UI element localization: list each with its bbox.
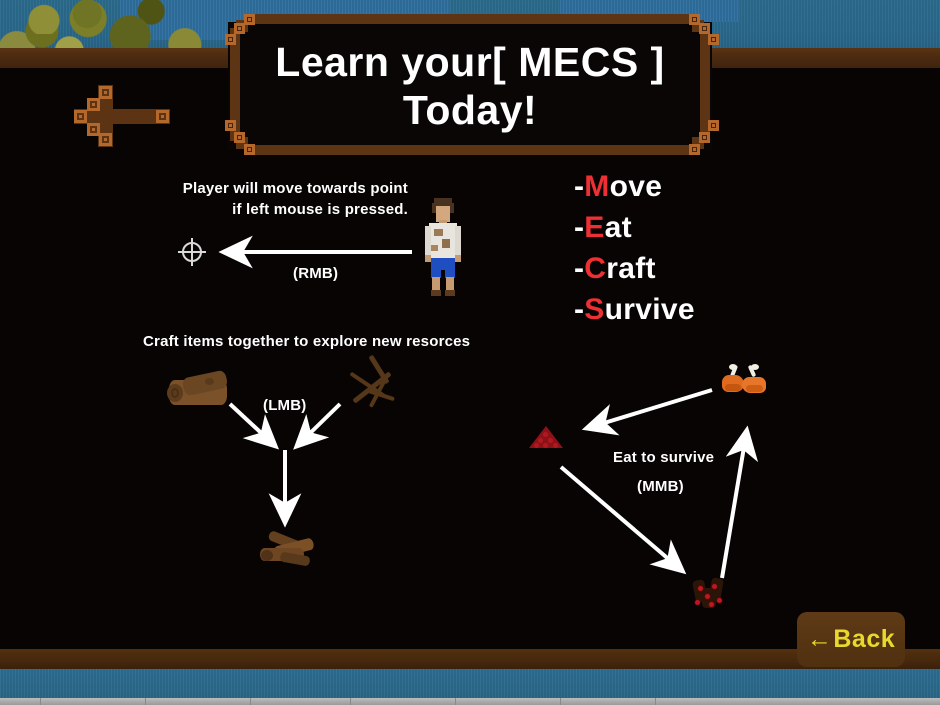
campfire-item-icon [258, 528, 318, 570]
mecs-initial: E [584, 211, 604, 244]
mecs-rest: raft [606, 252, 656, 285]
berry-pile-item-icon [529, 424, 563, 450]
background-foliage-highlight [8, 0, 128, 34]
craft-instruction: Craft items together to explore new reso… [143, 331, 470, 352]
eat-instruction-line-1: Eat to survive [613, 447, 714, 468]
eat-instruction-line-2: (MMB) [637, 476, 684, 497]
left-arrow-icon: ← [807, 625, 833, 654]
crosshair-icon [178, 238, 206, 266]
player-character-sprite [420, 198, 466, 298]
move-instruction: Player will move towards point if left m… [143, 178, 408, 220]
mecs-rest: urvive [605, 293, 695, 326]
move-instruction-line-1: Player will move towards point [143, 178, 408, 199]
title-panel: Learn your[ MECS ] Today! [208, 12, 732, 157]
page-title: Learn your[ MECS ] Today! [228, 26, 712, 146]
mecs-item-eat: -Eat [574, 207, 824, 248]
berry-bush-item-icon [690, 578, 730, 614]
mecs-item-move: -Move [574, 166, 824, 207]
title-line-1: Learn your[ MECS ] [275, 38, 664, 86]
mecs-rest: ove [610, 170, 663, 203]
cooked-chicken-item-icon [718, 365, 770, 397]
back-button-label: ←Back [807, 625, 895, 654]
lmb-hint-label: (LMB) [263, 395, 306, 416]
mecs-initial: S [584, 293, 604, 326]
mecs-item-craft: -Craft [574, 248, 824, 289]
back-button[interactable]: ←Back [797, 612, 905, 667]
os-taskbar[interactable] [0, 698, 940, 705]
game-tutorial-screen: Learn your[ MECS ] Today! -Move -Eat -Cr… [0, 0, 940, 705]
mecs-dash: - [574, 252, 584, 285]
mecs-acronym-list: -Move -Eat -Craft -Survive [574, 166, 824, 330]
sticks-item-icon [345, 363, 401, 417]
wood-cross-ornament-icon [52, 85, 172, 147]
mecs-dash: - [574, 170, 584, 203]
mecs-rest: at [605, 211, 632, 244]
mecs-item-survive: -Survive [574, 289, 824, 330]
mecs-dash: - [574, 211, 584, 244]
background-water-bottom [0, 669, 940, 698]
rmb-hint-label: (RMB) [293, 263, 338, 284]
mecs-initial: C [584, 252, 606, 285]
mecs-dash: - [574, 293, 584, 326]
title-line-2: Today! [403, 86, 537, 134]
move-instruction-line-2: if left mouse is pressed. [143, 199, 408, 220]
back-label-text: Back [833, 625, 895, 654]
mecs-initial: M [584, 170, 609, 203]
wood-log-item-icon [165, 370, 231, 412]
